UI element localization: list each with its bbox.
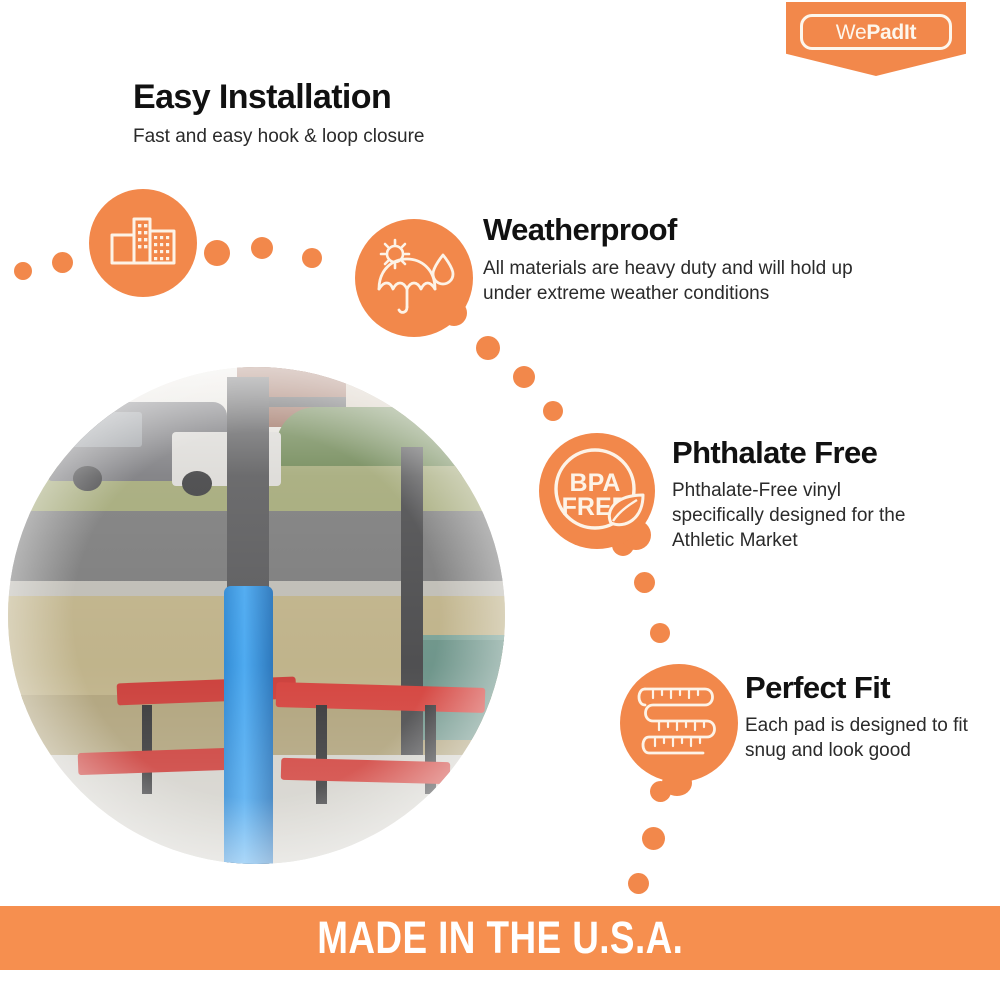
product-photo [8, 367, 505, 864]
brand-logo[interactable]: WePadIt [786, 2, 966, 76]
trail-dot [476, 336, 500, 360]
infographic-page: WePadIt [0, 0, 1000, 987]
trail-dot [634, 572, 655, 593]
trail-dot [628, 873, 649, 894]
feature-body: Fast and easy hook & loop closure [133, 124, 425, 149]
measuring-tape-icon [633, 679, 725, 767]
feature-body: All materials are heavy duty and will ho… [483, 256, 893, 307]
logo-text-we: We [836, 21, 867, 44]
building-icon [108, 213, 178, 273]
building-icon-badge[interactable] [89, 189, 197, 297]
feature-easy-installation: Easy Installation Fast and easy hook & l… [133, 79, 425, 149]
feature-phthalate-free: Phthalate Free Phthalate-Free vinyl spec… [672, 437, 930, 554]
logo-text-it: It [904, 21, 916, 44]
logo-text: WePadIt [836, 22, 916, 43]
feature-title: Perfect Fit [745, 672, 973, 705]
trail-dot [14, 262, 32, 280]
made-in-usa-banner: MADE IN THE U.S.A. [0, 906, 1000, 970]
feature-perfect-fit: Perfect Fit Each pad is designed to fit … [745, 672, 973, 763]
feature-body: Each pad is designed to fit snug and loo… [745, 713, 973, 764]
trail-dot [543, 401, 563, 421]
trail-dot [642, 827, 665, 850]
raindrop-icon [433, 255, 453, 284]
feature-body: Phthalate-Free vinyl specifically design… [672, 478, 930, 554]
bpa-free-icon-badge[interactable]: BPA FREE [539, 433, 655, 549]
photo-vignette [8, 367, 505, 864]
logo-text-pad: Pad [866, 21, 904, 44]
logo-outline: WePadIt [800, 14, 952, 50]
feature-title: Easy Installation [133, 79, 425, 115]
trail-dot [302, 248, 322, 268]
sun-umbrella-raindrop-icon [371, 237, 457, 319]
trail-dot [52, 252, 73, 273]
perfect-fit-icon-badge[interactable] [620, 664, 738, 782]
trail-dot [251, 237, 273, 259]
made-in-usa-text: MADE IN THE U.S.A. [317, 912, 683, 964]
bpa-free-leaf-icon: BPA FREE [545, 439, 649, 543]
trail-dot [204, 240, 230, 266]
trail-dot [650, 623, 670, 643]
feature-title: Phthalate Free [672, 437, 930, 470]
feature-weatherproof: Weatherproof All materials are heavy dut… [483, 214, 893, 306]
weatherproof-icon-badge[interactable] [355, 219, 473, 337]
trail-dot [513, 366, 535, 388]
photo-scene [8, 367, 505, 864]
feature-title: Weatherproof [483, 214, 893, 247]
